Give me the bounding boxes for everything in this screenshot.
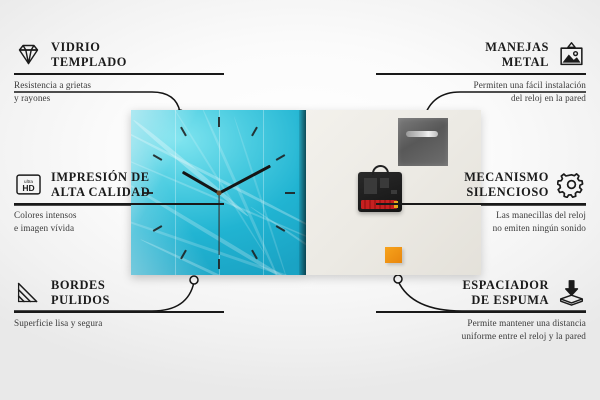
feature-desc-bordes: Superficie lisa y segura xyxy=(14,317,224,330)
divider xyxy=(376,203,586,205)
diamond-icon xyxy=(14,41,43,68)
ultra-hd-icon: ultra HD xyxy=(14,171,43,198)
framed-picture-hanging-icon xyxy=(557,41,586,68)
divider xyxy=(14,203,224,205)
svg-text:HD: HD xyxy=(22,183,34,193)
feature-title-bordes: BORDES PULIDOS xyxy=(51,278,110,307)
feature-callout-manejas: MANEJAS METAL Permiten una fácil instala… xyxy=(376,40,586,104)
feature-desc-espaciador: Permite mantener una distancia uniforme … xyxy=(376,317,586,342)
feature-desc-manejas: Permiten una fácil instalación del reloj… xyxy=(376,79,586,104)
feature-title-manejas: MANEJAS METAL xyxy=(485,40,549,69)
feature-desc-impresion: Colores intensos e imagen vívida xyxy=(14,209,224,234)
divider xyxy=(14,311,224,313)
metal-hanger-plate xyxy=(398,118,448,166)
divider xyxy=(14,73,224,75)
feature-callout-bordes: BORDES PULIDOS Superficie lisa y segura xyxy=(14,278,224,330)
feature-callout-espaciador: ESPACIADOR DE ESPUMA Permite mantener un… xyxy=(376,278,586,342)
metal-hanger-strip xyxy=(406,131,438,137)
foam-spacer-pad xyxy=(385,247,402,263)
gear-icon xyxy=(557,171,586,198)
feature-desc-vidrio: Resistencia a grietas y rayones xyxy=(14,79,224,104)
divider xyxy=(376,311,586,313)
feature-callout-vidrio: VIDRIO TEMPLADO Resistencia a grietas y … xyxy=(14,40,224,104)
feature-title-espaciador: ESPACIADOR DE ESPUMA xyxy=(462,278,549,307)
feature-title-impresion: IMPRESIÓN DE ALTA CALIDAD xyxy=(51,170,150,199)
clock-hand-minute xyxy=(218,164,270,194)
feature-title-mecanismo: MECANISMO SILENCIOSO xyxy=(464,170,549,199)
feature-title-vidrio: VIDRIO TEMPLADO xyxy=(51,40,127,69)
feature-callout-mecanismo: MECANISMO SILENCIOSO Las manecillas del … xyxy=(376,170,586,234)
feature-desc-mecanismo: Las manecillas del reloj no emiten ningú… xyxy=(376,209,586,234)
foam-spacer-arrow-icon xyxy=(557,279,586,306)
divider xyxy=(376,73,586,75)
polished-edge-icon xyxy=(14,279,43,306)
feature-callout-impresion: ultra HD IMPRESIÓN DE ALTA CALIDAD Color… xyxy=(14,170,224,234)
infographic-canvas: VIDRIO TEMPLADO Resistencia a grietas y … xyxy=(0,0,600,400)
